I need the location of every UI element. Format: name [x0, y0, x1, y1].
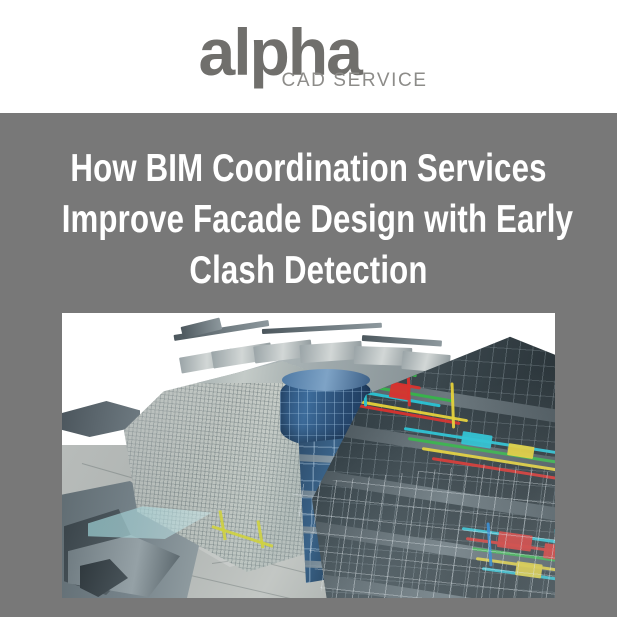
bim-scene	[62, 313, 555, 598]
brand-tagline: CAD SERVICE	[282, 71, 428, 90]
page-title: How BIM Coordination Services Improve Fa…	[62, 143, 556, 296]
headline-line-3: Clash Detection	[62, 245, 556, 296]
header-band: alpha CAD SERVICE	[0, 0, 617, 113]
brand-logo[interactable]: alpha CAD SERVICE	[199, 17, 429, 97]
headline-line-1: How BIM Coordination Services	[62, 143, 556, 194]
cylinder-cap	[282, 369, 370, 391]
bim-model-image	[62, 313, 555, 598]
headline-line-2: Improve Facade Design with Early	[62, 194, 556, 245]
social-poster: alpha CAD SERVICE How BIM Coordination S…	[0, 0, 617, 617]
